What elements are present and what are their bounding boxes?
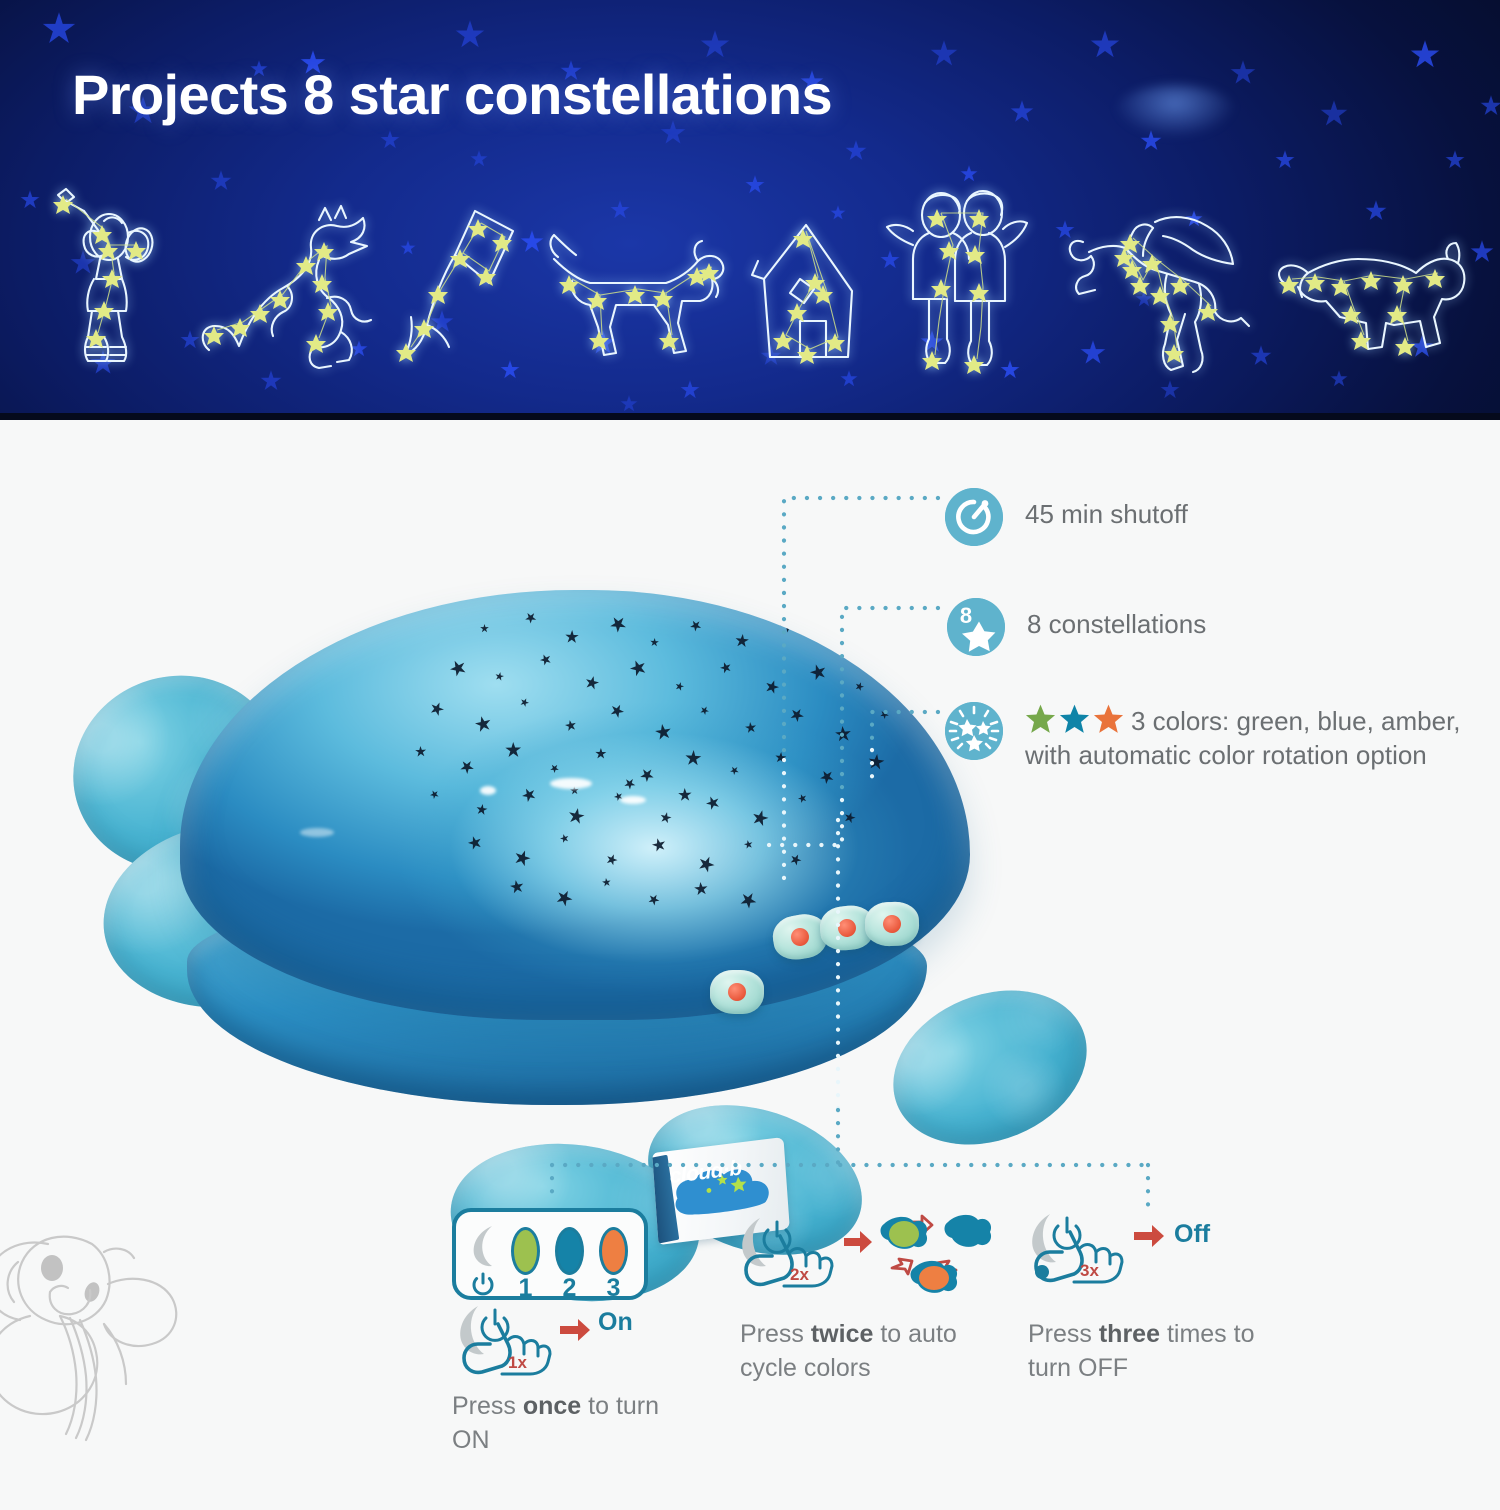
result-label-on: On bbox=[598, 1308, 633, 1337]
control-panel-diagram: 1 2 3 bbox=[452, 1208, 648, 1300]
panel-label-2: 2 bbox=[555, 1274, 584, 1303]
background-star bbox=[380, 130, 400, 150]
feature-label: 8 constellations bbox=[1005, 598, 1206, 641]
feature-label: 45 min shutoff bbox=[1003, 488, 1188, 531]
background-star bbox=[1320, 100, 1348, 128]
background-star bbox=[700, 30, 730, 60]
power-symbol-icon bbox=[470, 1272, 496, 1298]
moon-glow bbox=[1115, 85, 1235, 137]
banner-title: Projects 8 star constellations bbox=[72, 62, 832, 127]
bear-constellation bbox=[1274, 237, 1474, 377]
feature-45-min-shutoff: 45 min shutoff bbox=[945, 488, 1188, 546]
crescent-moon-icon bbox=[468, 1224, 498, 1268]
background-star bbox=[1410, 40, 1440, 70]
kite-constellation bbox=[397, 197, 527, 377]
press-three-times-gesture-icon: 3x bbox=[1028, 1210, 1258, 1310]
star-green bbox=[1025, 704, 1056, 735]
star-amber bbox=[1093, 704, 1124, 735]
background-star bbox=[680, 380, 700, 400]
house-constellation bbox=[748, 217, 868, 377]
dragon-constellation bbox=[191, 202, 381, 377]
svg-text:8: 8 bbox=[960, 603, 972, 628]
star-blue bbox=[1059, 704, 1090, 735]
feature-label: 3 colors: green, blue, amber, with autom… bbox=[1003, 702, 1485, 773]
panel-label-3: 3 bbox=[599, 1274, 628, 1303]
background-star bbox=[455, 20, 485, 50]
panel-color-oval-2[interactable] bbox=[555, 1227, 584, 1275]
panel-color-oval-1[interactable] bbox=[511, 1227, 540, 1275]
sparkle-stars-icon bbox=[945, 702, 1003, 760]
color-star-swatches bbox=[1025, 704, 1124, 735]
orion-warrior-constellation bbox=[26, 177, 176, 377]
panel-label-1: 1 bbox=[511, 1274, 540, 1303]
background-star bbox=[930, 40, 958, 68]
result-label-off: Off bbox=[1174, 1220, 1210, 1249]
background-star bbox=[1230, 60, 1256, 86]
press-count-badge: 1x bbox=[508, 1353, 527, 1372]
background-star bbox=[1480, 95, 1500, 117]
pegasus-constellation bbox=[1059, 202, 1259, 377]
body-area: cloud·b bbox=[0, 420, 1500, 1500]
timer-icon bbox=[945, 488, 1003, 546]
panel-color-oval-3[interactable] bbox=[599, 1227, 628, 1275]
instruction-caption: Press twice to auto cycle colors bbox=[740, 1318, 990, 1385]
background-star bbox=[42, 12, 76, 46]
background-star bbox=[1160, 380, 1180, 400]
press-twice-gesture-icon: 2x bbox=[740, 1210, 1000, 1310]
banner-bottom-edge bbox=[0, 413, 1500, 420]
dog-constellation bbox=[542, 227, 732, 377]
feature-8-constellations: 8 8 constellations bbox=[947, 598, 1206, 656]
eight-star-icon: 8 bbox=[947, 598, 1005, 656]
twins-constellation bbox=[883, 187, 1043, 377]
background-star bbox=[620, 395, 638, 413]
instruction-caption: Press three times to turn OFF bbox=[1028, 1318, 1278, 1385]
background-star bbox=[1010, 100, 1034, 124]
background-star bbox=[1090, 30, 1120, 60]
background-star bbox=[845, 140, 867, 162]
press-count-badge: 2x bbox=[790, 1265, 809, 1284]
constellation-row bbox=[0, 162, 1500, 377]
instruction-row: 1 2 3 1x On Press once to turn ON bbox=[0, 1190, 1500, 1500]
press-count-badge: 3x bbox=[1080, 1261, 1099, 1280]
instruction-caption: Press once to turn ON bbox=[452, 1390, 702, 1457]
feature-3-colors: 3 colors: green, blue, amber, with autom… bbox=[945, 702, 1485, 773]
starry-banner: Projects 8 star constellations bbox=[0, 0, 1500, 420]
